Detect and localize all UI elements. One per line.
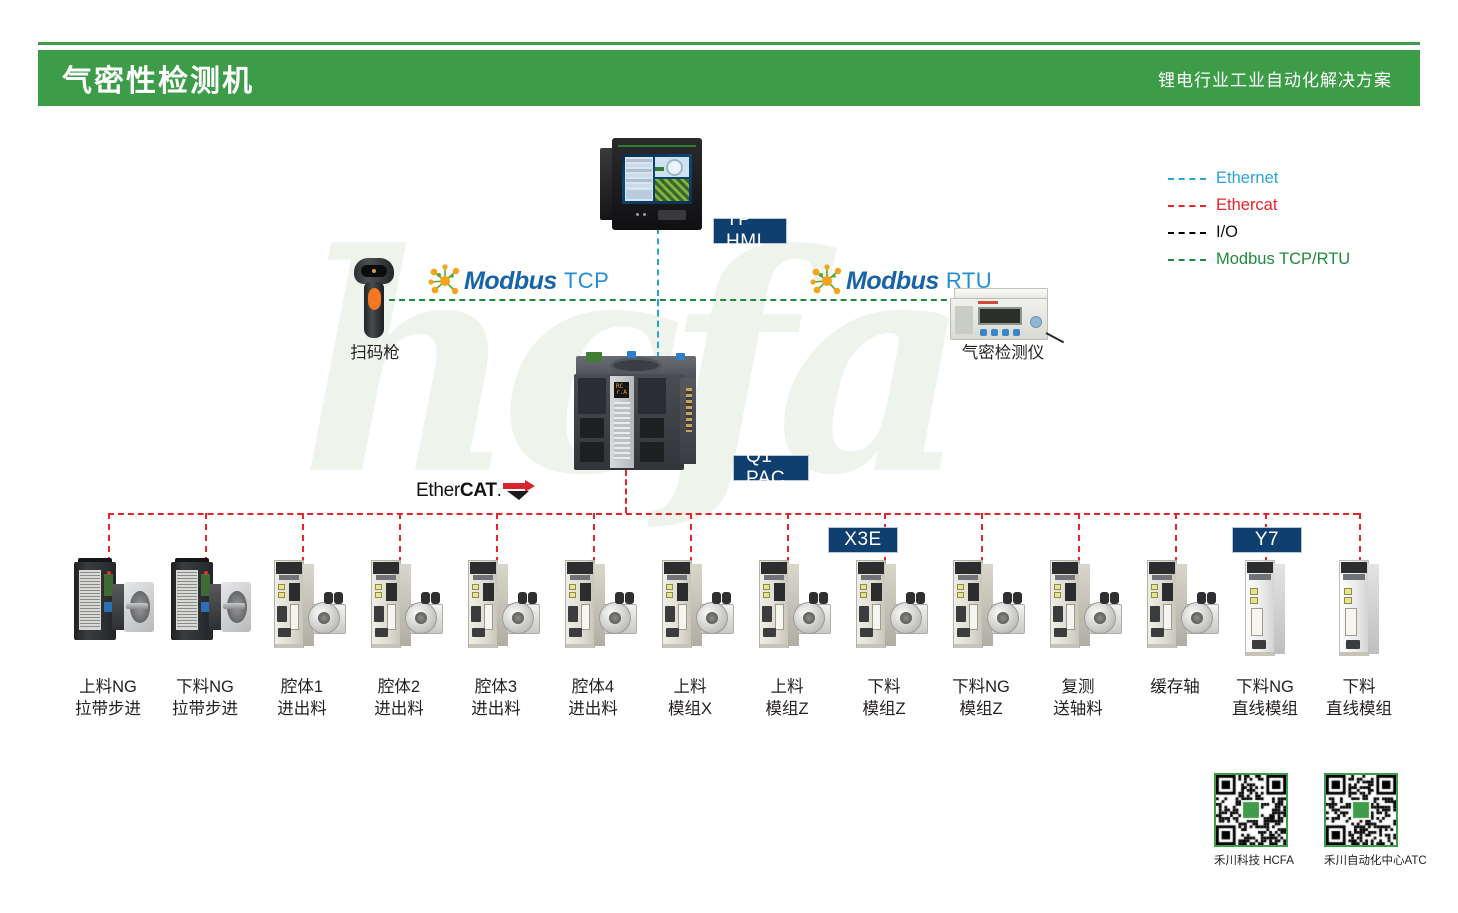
ethercat-logo-bold: CAT [460,480,497,501]
ethercat-logo-text: EtherCAT. [416,480,502,502]
header-bar: 气密性检测机 锂电行业工业自动化解决方案 [38,50,1420,106]
caption-scanner: 扫码枪 [310,342,440,364]
modbus-bus-line [389,299,977,301]
caption-scanner-text: 扫码枪 [350,344,400,362]
ethercat-logo: EtherCAT. [416,480,535,502]
ethercat-drop-13 [1359,513,1361,563]
legend-label-ethernet: Ethernet [1216,169,1278,188]
legend-item-ethernet: Ethernet [1168,165,1350,192]
ethercat-drop-1 [205,513,207,563]
axis-device-11[interactable] [1143,558,1227,658]
ethercat-drop-2 [302,513,304,563]
legend-label-ethercat: Ethercat [1216,196,1277,215]
axis-device-7[interactable] [755,558,839,658]
modbus-rtu-proto: RTU [946,268,992,294]
qr-caption-hcfa: 禾川科技 HCFA [1214,852,1294,868]
ethercat-line-pac-to-bus [625,470,627,513]
qr-caption-atc: 禾川自动化中心ATC [1324,852,1427,868]
ethercat-drop-10 [1078,513,1080,563]
legend-item-ethercat: Ethercat [1168,192,1350,219]
axis-device-0[interactable] [68,558,160,658]
axis-device-12[interactable] [1237,558,1293,658]
qr-block-atc: 禾川自动化中心ATC [1324,773,1427,868]
qr-code-atc[interactable] [1324,773,1398,847]
modbus-tcp-proto: TCP [564,268,610,294]
axis-caption-line1-12: 下料NG [1236,678,1294,696]
axis-device-2[interactable] [270,558,354,658]
axis-caption-line1-0: 上料NG [79,678,137,696]
axis-device-4[interactable] [464,558,548,658]
axis-caption-line1-1: 下料NG [176,678,234,696]
axis-device-5[interactable] [561,558,645,658]
legend-dash-ethernet [1168,178,1206,180]
ethercat-drop-3 [399,513,401,563]
axis-caption-line1-8: 下料 [868,678,901,696]
legend-label-modbus: Modbus TCP/RTU [1216,250,1350,269]
axis-device-3[interactable] [367,558,451,658]
modbus-molecule-icon-rtu [810,264,844,298]
q1-pac-device: RCr.A [568,356,704,474]
axis-device-8[interactable] [852,558,936,658]
axis-device-1[interactable] [165,558,257,658]
modbus-tcp-logo: Modbus TCP [428,264,609,298]
qr-block-hcfa: 禾川科技 HCFA [1214,773,1294,868]
axis-device-10[interactable] [1046,558,1130,658]
diagram-page: hcfa 气密性检测机 锂电行业工业自动化解决方案 Ethernet Ether… [0,0,1458,913]
axis-device-6[interactable] [658,558,742,658]
ethercat-drop-6 [690,513,692,563]
legend-item-modbus: Modbus TCP/RTU [1168,246,1350,273]
modbus-rtu-word: Modbus [846,267,939,296]
axis-device-9[interactable] [949,558,1033,658]
axis-caption-line1-7: 上料 [771,678,804,696]
ethercat-drop-5 [593,513,595,563]
tag-x3e: X3E [828,527,898,553]
axis-caption-line1-9: 下料NG [952,678,1010,696]
axis-caption-line1-2: 腔体1 [281,678,323,696]
ethercat-drop-7 [787,513,789,563]
ethernet-drop-pac [657,299,659,359]
axis-caption-line2-10: 送轴料 [1018,698,1138,720]
caption-detector: 气密检测仪 [938,342,1068,364]
axis-device-13[interactable] [1331,558,1387,658]
tag-q1-pac: Q1 PAC [733,455,809,481]
ethercat-drop-4 [496,513,498,563]
qr-code-hcfa[interactable] [1214,773,1288,847]
modbus-molecule-icon [428,264,462,298]
tp-hmi-device [600,138,705,230]
axis-caption-line1-13: 下料 [1343,678,1376,696]
axis-caption-line1-5: 腔体4 [572,678,614,696]
axis-caption-line1-6: 上料 [674,678,707,696]
ethercat-drop-0 [108,513,110,563]
barcode-scanner-device [350,258,400,338]
caption-detector-text: 气密检测仪 [962,344,1045,362]
page-subtitle: 锂电行业工业自动化解决方案 [1158,66,1392,91]
legend-dash-ethercat [1168,205,1206,207]
modbus-rtu-logo: Modbus RTU [810,264,992,298]
ethercat-drop-11 [1175,513,1177,563]
axis-caption-line1-10: 复测 [1062,678,1095,696]
modbus-tcp-word: Modbus [464,267,557,296]
axis-caption-line2-13: 直线模组 [1299,698,1419,720]
legend: Ethernet Ethercat I/O Modbus TCP/RTU [1168,165,1350,273]
tag-tp-hmi: TP HMI [713,218,787,244]
ethercat-arrow-icon [503,480,535,502]
legend-label-io: I/O [1216,223,1238,242]
tag-y7: Y7 [1232,527,1302,553]
axis-caption-13: 下料 直线模组 [1299,676,1419,721]
axis-caption-line1-4: 腔体3 [475,678,517,696]
legend-dash-modbus [1168,259,1206,261]
legend-dash-io [1168,232,1206,234]
ethercat-drop-9 [981,513,983,563]
ethercat-bus-line [108,513,1359,515]
axis-caption-line1-3: 腔体2 [378,678,420,696]
page-title: 气密性检测机 [62,56,254,100]
header-rule [38,42,1420,45]
axis-caption-line1-11: 缓存轴 [1150,678,1200,696]
legend-item-io: I/O [1168,219,1350,246]
